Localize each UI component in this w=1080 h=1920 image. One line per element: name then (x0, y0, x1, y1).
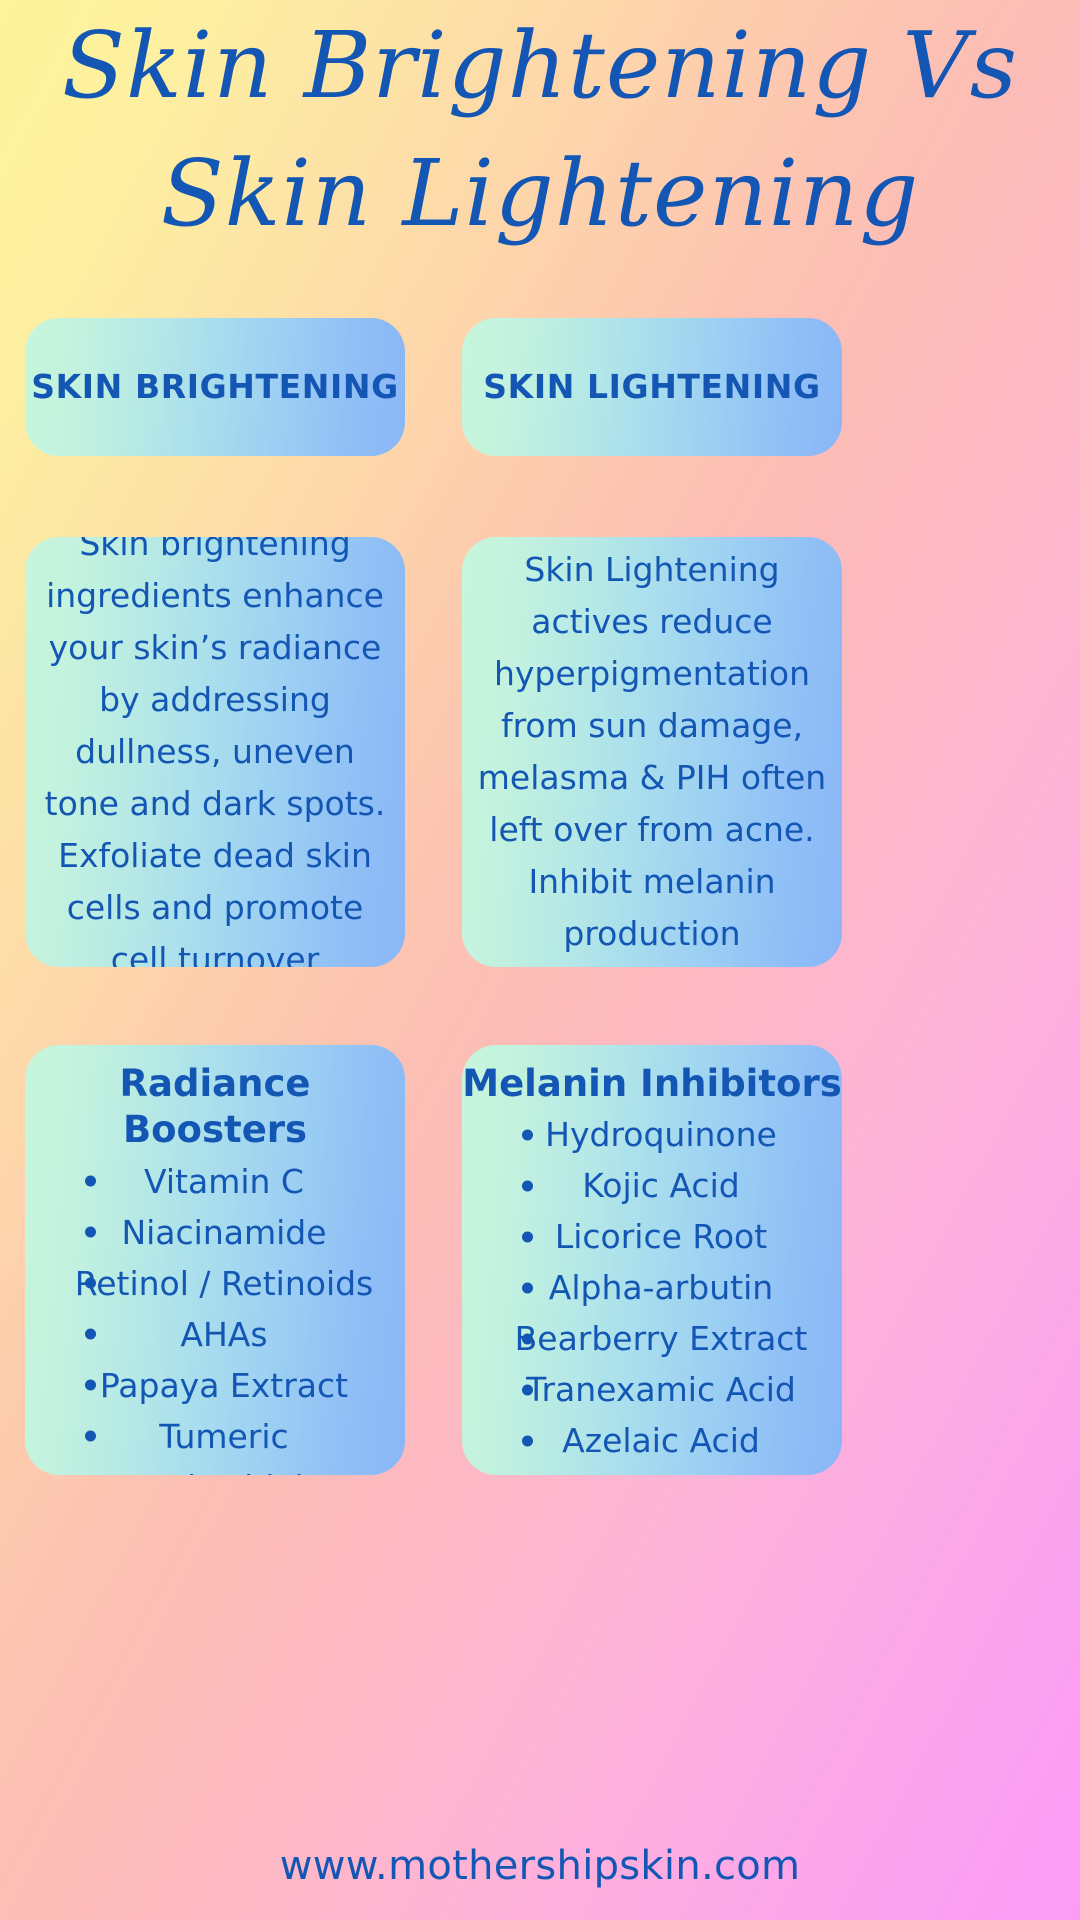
header-card-brightening: SKIN BRIGHTENING (25, 318, 405, 456)
list-item: Bearberry Extract (476, 1313, 836, 1364)
description-card-lightening: Skin Lightening actives reduce hyperpigm… (462, 537, 842, 967)
list-item-label: Retinol / Retinoids (75, 1264, 374, 1303)
list-item-label: Licorice Root (555, 1217, 767, 1256)
list-item-label: Papaya Extract (100, 1366, 348, 1405)
bullet-icon (522, 1231, 533, 1242)
bullet-icon (85, 1278, 96, 1289)
list-item-label: Vitamin C (144, 1162, 304, 1201)
bullet-icon (85, 1329, 96, 1340)
bullet-icon (85, 1176, 96, 1187)
list-item: Niacinamide (39, 1207, 399, 1258)
list-item: Retinol / Retinoids (39, 1258, 399, 1309)
list-item-label: Tranexamic Acid (526, 1370, 796, 1409)
ingredient-list-melanin-inhibitors: HydroquinoneKojic AcidLicorice RootAlpha… (462, 1109, 842, 1466)
bullet-icon (522, 1435, 533, 1446)
bullet-icon (85, 1431, 96, 1442)
bullet-icon (85, 1227, 96, 1238)
list-item: Tumeric (39, 1411, 399, 1462)
bullet-icon (522, 1129, 533, 1140)
list-heading-melanin-inhibitors: Melanin Inhibitors (462, 1061, 842, 1107)
list-item-label: Niacinamide (121, 1213, 326, 1252)
header-card-brightening-label: SKIN BRIGHTENING (31, 369, 399, 405)
list-item: Licorice Root (476, 1211, 836, 1262)
list-item-label: Alpha-arbutin (549, 1268, 773, 1307)
list-item: Azelaic Acid (476, 1415, 836, 1466)
list-item-label: Bakuchiol (144, 1468, 303, 1476)
description-text-brightening: Skin brightening ingredients enhance you… (39, 537, 391, 967)
list-item-label: Bearberry Extract (515, 1319, 808, 1358)
list-item: Vitamin C (39, 1156, 399, 1207)
list-item-label: Azelaic Acid (562, 1421, 760, 1460)
title-line-2: Skin Lightening (0, 130, 1080, 258)
bullet-icon (522, 1333, 533, 1344)
list-item: Papaya Extract (39, 1360, 399, 1411)
list-heading-radiance-boosters: Radiance Boosters (25, 1061, 405, 1154)
description-card-brightening: Skin brightening ingredients enhance you… (25, 537, 405, 967)
footer-website-url: www.mothershipskin.com (0, 1843, 1080, 1889)
bullet-icon (85, 1380, 96, 1391)
description-text-lightening: Skin Lightening actives reduce hyperpigm… (476, 544, 828, 960)
list-item: Kojic Acid (476, 1160, 836, 1211)
list-item: Hydroquinone (476, 1109, 836, 1160)
list-item: Bakuchiol (39, 1462, 399, 1476)
list-item-label: AHAs (180, 1315, 267, 1354)
list-item: Alpha-arbutin (476, 1262, 836, 1313)
header-card-lightening-label: SKIN LIGHTENING (483, 369, 820, 405)
list-item: AHAs (39, 1309, 399, 1360)
ingredient-list-radiance-boosters: Vitamin CNiacinamideRetinol / RetinoidsA… (25, 1156, 405, 1476)
title-line-1: Skin Brightening Vs (0, 2, 1080, 130)
list-item: Tranexamic Acid (476, 1364, 836, 1415)
bullet-icon (522, 1282, 533, 1293)
header-card-lightening: SKIN LIGHTENING (462, 318, 842, 456)
bullet-icon (522, 1180, 533, 1191)
list-item-label: Tumeric (159, 1417, 288, 1456)
ingredient-card-radiance-boosters: Radiance Boosters Vitamin CNiacinamideRe… (25, 1045, 405, 1475)
bullet-icon (522, 1384, 533, 1395)
list-item-label: Kojic Acid (582, 1166, 739, 1205)
list-item-label: Hydroquinone (545, 1115, 777, 1154)
ingredient-card-melanin-inhibitors: Melanin Inhibitors HydroquinoneKojic Aci… (462, 1045, 842, 1475)
page-title: Skin Brightening Vs Skin Lightening (0, 2, 1080, 258)
